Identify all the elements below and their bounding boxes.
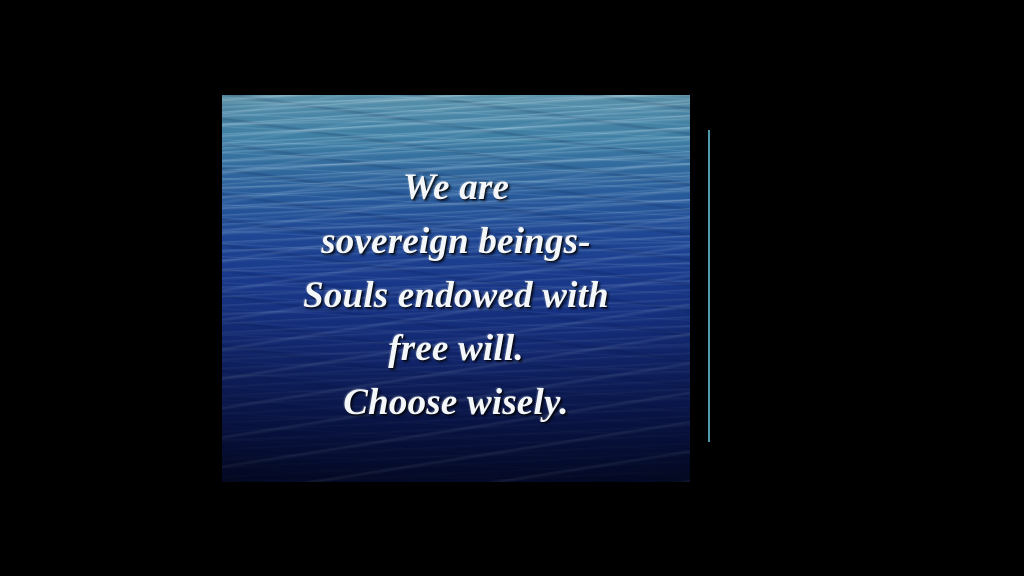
vertical-accent-line [708,130,710,442]
quote-line-1: We are [403,161,509,215]
quote-line-2: sovereign beings- [321,215,591,269]
quote-text-block: We are sovereign beings- Souls endowed w… [222,95,690,482]
screen-canvas: We are sovereign beings- Souls endowed w… [0,0,1024,576]
quote-line-3: Souls endowed with [303,269,609,323]
quote-line-5: Choose wisely. [343,376,569,430]
quote-line-4: free will. [388,322,524,376]
ocean-quote-image[interactable]: We are sovereign beings- Souls endowed w… [222,95,690,482]
